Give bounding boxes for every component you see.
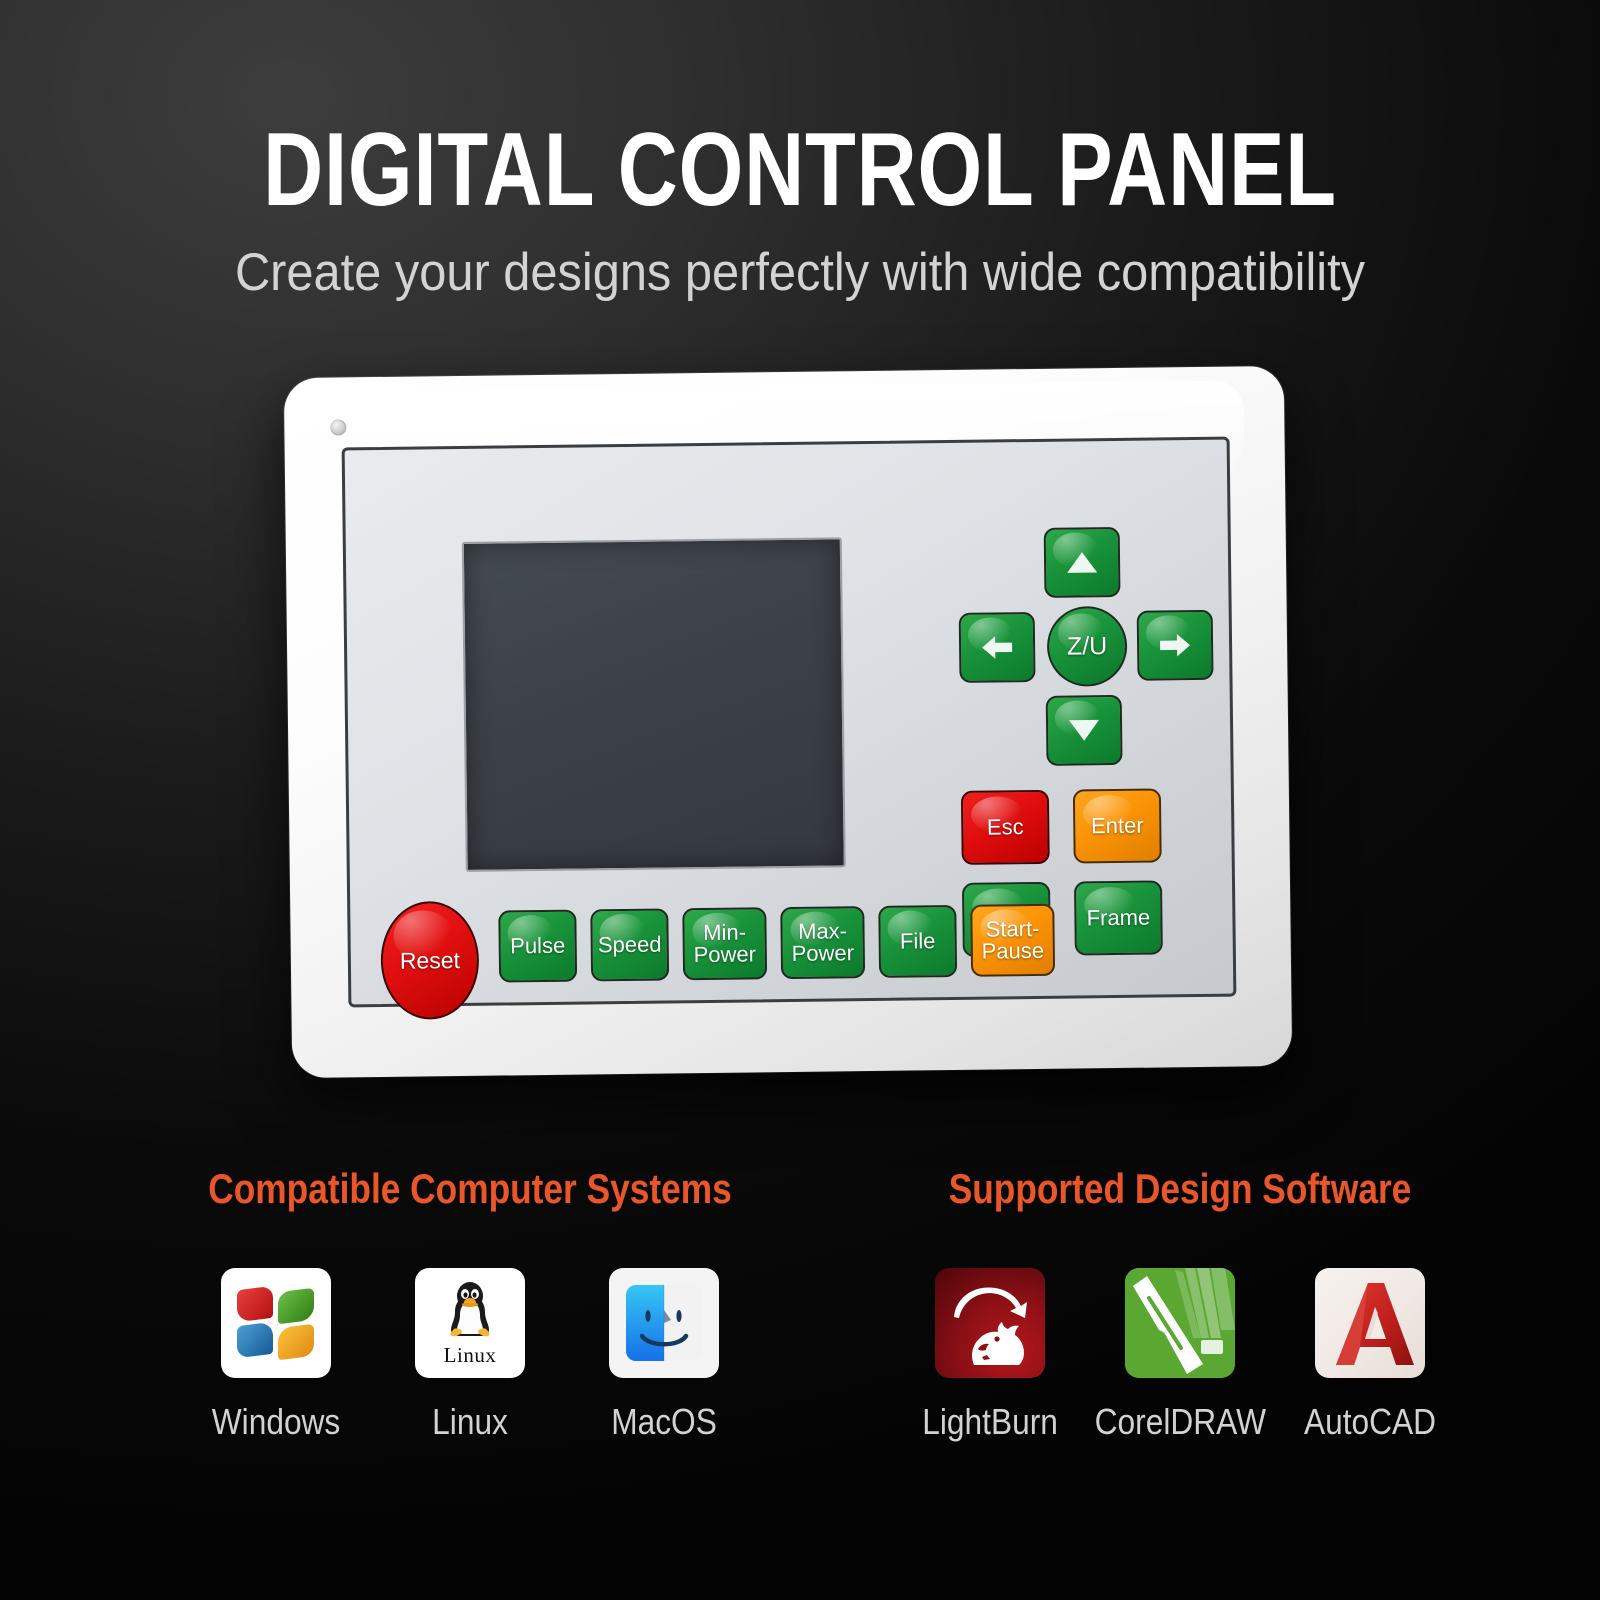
supported-software-column: Supported Design Software LightBurn xyxy=(830,1168,1530,1440)
lcd-display[interactable] xyxy=(462,537,846,872)
frame-button[interactable]: Frame xyxy=(1074,880,1163,955)
software-item-coreldraw[interactable]: CorelDRAW xyxy=(1085,1268,1275,1440)
esc-label: Esc xyxy=(987,816,1024,839)
page-subtitle: Create your designs perfectly with wide … xyxy=(64,246,1536,299)
max-power-label-line2: Power xyxy=(792,942,855,965)
frame-label: Frame xyxy=(1087,906,1151,929)
dpad-down-button[interactable] xyxy=(1046,695,1123,766)
zu-label: Z/U xyxy=(1067,632,1108,661)
control-panel-device: Z/U Esc Enter Origin xyxy=(284,366,1292,1078)
macos-finder-icon xyxy=(609,1268,719,1378)
dpad-up-button[interactable] xyxy=(1044,527,1121,598)
file-button[interactable]: File xyxy=(878,905,957,978)
start-pause-button[interactable]: Start- Pause xyxy=(970,904,1055,977)
device-faceplate: Z/U Esc Enter Origin xyxy=(342,437,1237,1008)
software-item-autocad[interactable]: AutoCAD xyxy=(1275,1268,1465,1440)
windows-label: Windows xyxy=(212,1404,341,1440)
reset-button[interactable]: Reset xyxy=(380,901,479,1020)
arrow-left-icon xyxy=(978,632,1016,662)
speed-label: Speed xyxy=(598,933,662,956)
autocad-label: AutoCAD xyxy=(1304,1404,1436,1440)
linux-tux-icon: Linux xyxy=(415,1268,525,1378)
header: DIGITAL CONTROL PANEL Create your design… xyxy=(0,0,1600,299)
macos-label: MacOS xyxy=(611,1404,717,1440)
speed-button[interactable]: Speed xyxy=(590,908,669,981)
esc-button[interactable]: Esc xyxy=(961,790,1050,865)
systems-icon-row: Windows xyxy=(120,1268,820,1440)
linux-label: Linux xyxy=(432,1404,508,1440)
pulse-button[interactable]: Pulse xyxy=(498,910,577,983)
supported-software-heading: Supported Design Software xyxy=(886,1168,1474,1210)
reset-label: Reset xyxy=(400,947,460,975)
min-power-label-line1: Min- xyxy=(703,921,746,944)
compatible-systems-heading: Compatible Computer Systems xyxy=(176,1168,764,1210)
coreldraw-icon xyxy=(1125,1268,1235,1378)
software-icon-row: LightBurn xyxy=(830,1268,1530,1440)
file-label: File xyxy=(900,930,936,953)
max-power-button[interactable]: Max- Power xyxy=(780,906,865,979)
software-item-lightburn[interactable]: LightBurn xyxy=(895,1268,1085,1440)
start-pause-label-line2: Pause xyxy=(981,940,1044,963)
dpad-center-zu-button[interactable]: Z/U xyxy=(1047,606,1128,687)
linux-icon-text: Linux xyxy=(444,1343,497,1368)
arrow-down-icon xyxy=(1065,715,1103,745)
windows-logo-icon xyxy=(221,1268,331,1378)
autocad-a-icon xyxy=(1315,1268,1425,1378)
system-item-macos[interactable]: MacOS xyxy=(567,1268,761,1440)
system-item-linux[interactable]: Linux Linux xyxy=(373,1268,567,1440)
coreldraw-label: CorelDRAW xyxy=(1094,1404,1265,1440)
compatible-systems-column: Compatible Computer Systems Windows xyxy=(120,1168,820,1440)
enter-button[interactable]: Enter xyxy=(1073,788,1162,863)
compatibility-section: Compatible Computer Systems Windows xyxy=(0,1168,1600,1528)
pulse-label: Pulse xyxy=(510,935,565,958)
arrow-right-icon xyxy=(1156,630,1194,660)
min-power-button[interactable]: Min- Power xyxy=(682,907,767,980)
page-title: DIGITAL CONTROL PANEL xyxy=(160,118,1440,222)
dpad-left-button[interactable] xyxy=(959,612,1036,683)
lightburn-dragon-icon xyxy=(935,1268,1045,1378)
enter-label: Enter xyxy=(1091,814,1144,837)
system-item-windows[interactable]: Windows xyxy=(179,1268,373,1440)
page-background: DIGITAL CONTROL PANEL Create your design… xyxy=(0,0,1600,1600)
min-power-label-line2: Power xyxy=(694,943,757,966)
dpad-right-button[interactable] xyxy=(1137,610,1214,681)
bezel-screw xyxy=(330,419,346,435)
lightburn-label: LightBurn xyxy=(922,1404,1058,1440)
arrow-up-icon xyxy=(1063,547,1101,577)
